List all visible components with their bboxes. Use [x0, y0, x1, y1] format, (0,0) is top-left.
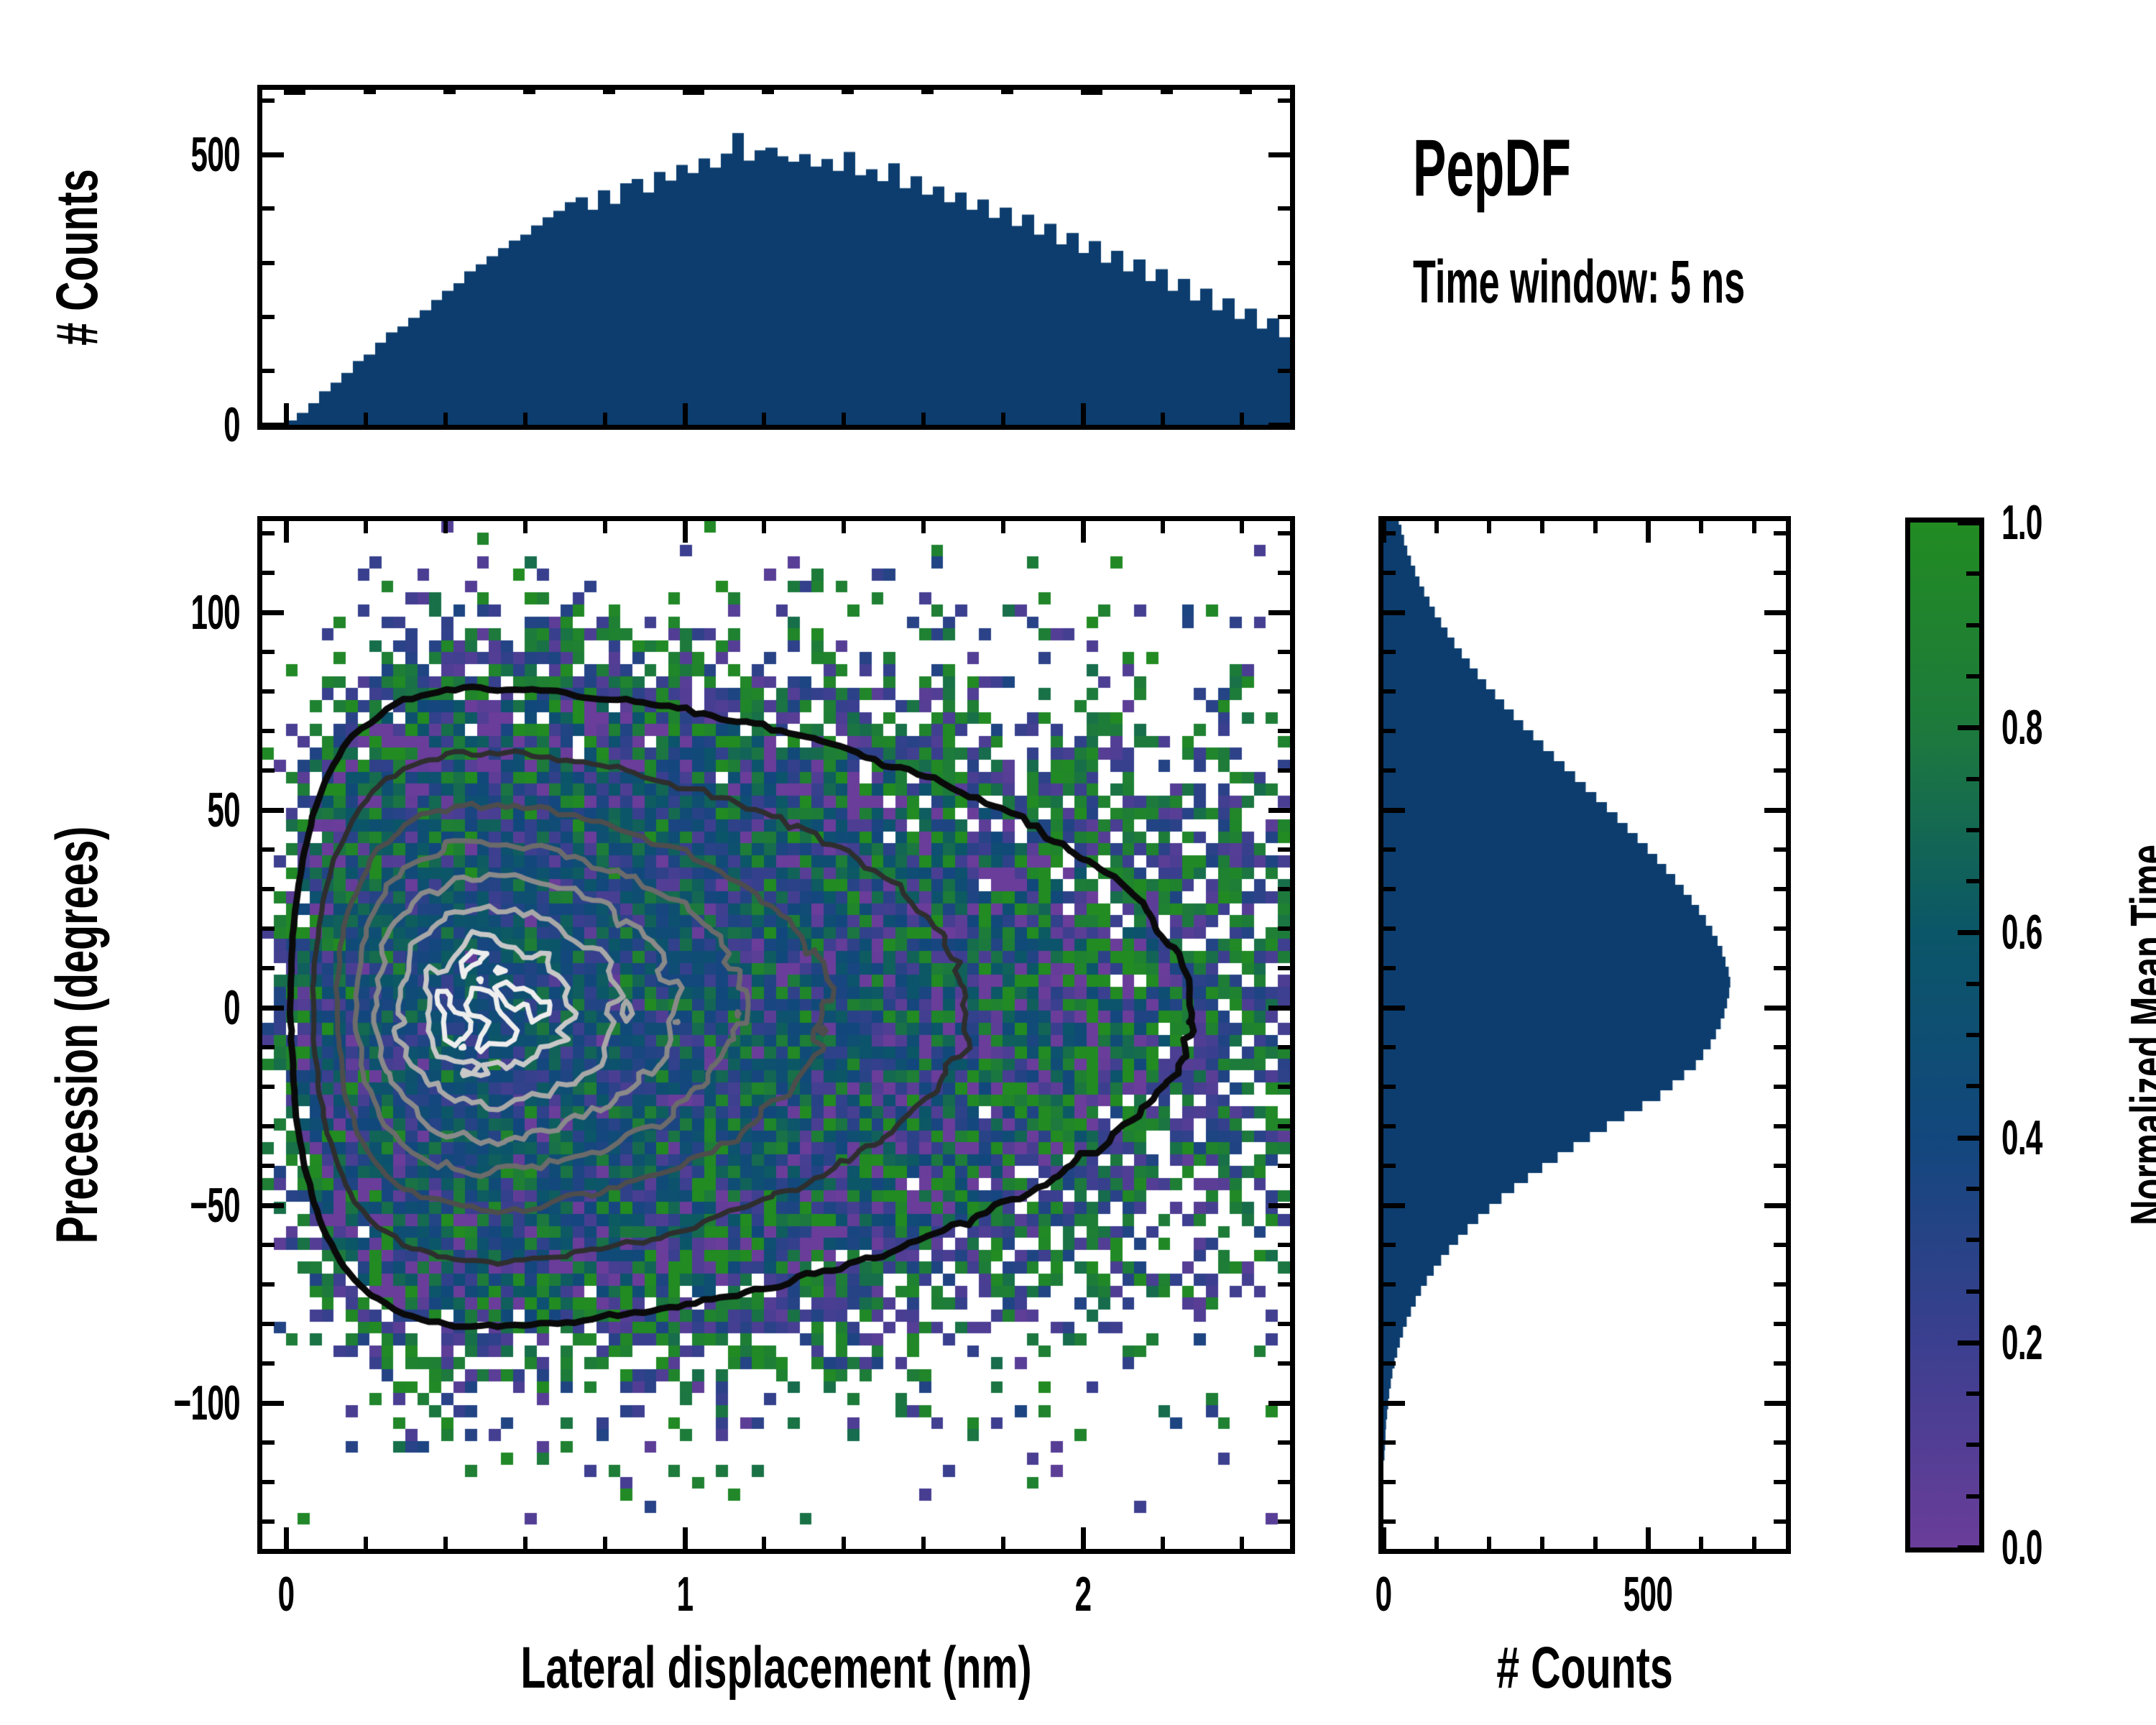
- axis-tick: [262, 1203, 284, 1208]
- axis-tick: [1268, 808, 1290, 813]
- axis-tick-label: 1.0: [2001, 498, 2042, 547]
- axis-tick: [921, 1537, 926, 1549]
- axis-tick: [1383, 1124, 1396, 1128]
- axis-tick: [1383, 650, 1396, 654]
- axis-tick: [1278, 1480, 1290, 1484]
- axis-tick-label: 2: [1075, 1570, 1092, 1619]
- axis-tick-label: 0: [224, 983, 240, 1032]
- axis-tick: [1278, 1045, 1290, 1049]
- axis-tick: [262, 1045, 275, 1049]
- axis-tick: [1383, 808, 1405, 813]
- axis-tick: [1966, 571, 1979, 576]
- axis-tick: [921, 413, 926, 425]
- axis-tick: [1383, 1203, 1405, 1208]
- axis-tick: [683, 1527, 688, 1549]
- axis-tick: [1278, 1322, 1290, 1326]
- axis-tick: [1278, 887, 1290, 891]
- axis-tick: [1081, 1527, 1086, 1549]
- axis-tick: [1774, 1480, 1786, 1484]
- axis-tick: [683, 90, 704, 95]
- axis-tick: [364, 90, 376, 94]
- right-panel-xlabel: # Counts: [1496, 1639, 1673, 1698]
- axis-tick: [1383, 531, 1396, 535]
- axis-tick: [921, 90, 934, 94]
- axis-tick: [1240, 90, 1252, 94]
- axis-tick: [1278, 1519, 1290, 1524]
- axis-tick: [683, 521, 688, 543]
- axis-tick: [1161, 521, 1165, 533]
- axis-tick: [1966, 828, 1979, 832]
- axis-tick: [1278, 1282, 1290, 1287]
- axis-tick: [762, 90, 774, 94]
- axis-tick: [762, 1537, 766, 1549]
- axis-tick: [262, 1006, 284, 1011]
- axis-tick: [1278, 571, 1290, 575]
- axis-tick: [1774, 1243, 1786, 1247]
- axis-tick: [1278, 315, 1290, 319]
- axis-tick-label: 0.4: [2001, 1113, 2042, 1162]
- axis-tick: [1081, 90, 1102, 95]
- axis-tick: [262, 1361, 275, 1366]
- axis-tick: [1958, 1545, 1979, 1550]
- axis-tick: [262, 152, 284, 157]
- top-panel-ylabel: # Counts: [48, 169, 107, 346]
- axis-tick: [1081, 403, 1086, 425]
- axis-tick: [262, 1401, 284, 1406]
- axis-tick: [1278, 847, 1290, 852]
- top-marginal-histogram-panel: [257, 85, 1295, 430]
- axis-tick: [262, 887, 275, 891]
- axis-tick: [262, 610, 284, 615]
- axis-tick: [1752, 521, 1756, 533]
- axis-tick: [1764, 1401, 1786, 1406]
- axis-tick: [262, 1282, 275, 1287]
- axis-tick: [1774, 966, 1786, 970]
- axis-tick: [1268, 152, 1290, 157]
- axis-tick: [1434, 1537, 1439, 1549]
- axis-tick: [1540, 521, 1544, 533]
- axis-tick: [1774, 1282, 1786, 1287]
- axis-tick: [1383, 571, 1396, 575]
- axis-tick: [1966, 777, 1979, 781]
- axis-tick: [284, 90, 305, 95]
- axis-tick: [1774, 1440, 1786, 1445]
- axis-tick: [1278, 369, 1290, 373]
- axis-tick: [1278, 768, 1290, 773]
- axis-tick: [262, 571, 275, 575]
- axis-tick-label: 100: [191, 588, 240, 637]
- axis-tick: [262, 1440, 275, 1445]
- axis-tick: [1383, 610, 1405, 615]
- axis-tick: [443, 1537, 448, 1549]
- axis-tick: [1966, 1187, 1979, 1191]
- axis-tick: [1383, 1282, 1396, 1287]
- axis-tick: [262, 261, 275, 265]
- axis-tick: [1699, 521, 1703, 533]
- axis-tick: [1487, 521, 1491, 533]
- axis-tick: [842, 90, 854, 94]
- axis-tick: [262, 926, 275, 931]
- axis-tick-label: 0: [278, 1570, 295, 1619]
- axis-tick: [262, 768, 275, 773]
- axis-tick: [1966, 1443, 1979, 1447]
- axis-tick: [1966, 1033, 1979, 1037]
- axis-tick-label: −50: [190, 1181, 240, 1230]
- axis-tick: [1774, 768, 1786, 773]
- axis-tick-label: 0: [224, 400, 240, 449]
- axis-tick: [1383, 1243, 1396, 1247]
- axis-tick-label: 0.8: [2001, 703, 2042, 752]
- axis-tick: [1278, 689, 1290, 694]
- axis-tick: [1381, 1527, 1386, 1549]
- axis-tick: [1001, 90, 1013, 94]
- axis-tick: [1774, 1124, 1786, 1128]
- axis-tick-label: 0.6: [2001, 908, 2042, 957]
- axis-tick: [262, 423, 284, 428]
- axis-tick: [1774, 650, 1786, 654]
- axis-tick: [1240, 521, 1244, 533]
- axis-tick: [1774, 1322, 1786, 1326]
- axis-tick: [1958, 725, 1979, 730]
- axis-tick: [1383, 1361, 1396, 1366]
- axis-tick: [262, 1480, 275, 1484]
- axis-tick: [1268, 1203, 1290, 1208]
- axis-tick: [1593, 521, 1598, 533]
- axis-tick: [1383, 1480, 1396, 1484]
- axis-tick: [364, 413, 368, 425]
- axis-tick: [1699, 1537, 1703, 1549]
- right-marginal-histogram-panel: [1378, 516, 1791, 1554]
- axis-tick: [1240, 1537, 1244, 1549]
- axis-tick: [1774, 571, 1786, 575]
- axis-tick: [1278, 1085, 1290, 1089]
- axis-tick: [1383, 1322, 1396, 1326]
- axis-tick: [284, 1527, 289, 1549]
- axis-tick: [1383, 729, 1396, 733]
- colorbar-label: Normalized Mean Time: [2124, 845, 2156, 1225]
- axis-tick: [443, 521, 448, 533]
- axis-tick: [1593, 1537, 1598, 1549]
- axis-tick: [1268, 1401, 1290, 1406]
- axis-tick: [683, 403, 688, 425]
- axis-tick: [1383, 1440, 1396, 1445]
- axis-tick-label: 0.0: [2001, 1523, 2042, 1572]
- axis-tick: [1161, 90, 1173, 94]
- axis-tick: [1774, 847, 1786, 852]
- axis-tick-label: 500: [1623, 1570, 1672, 1619]
- axis-tick: [1966, 1238, 1979, 1242]
- axis-tick: [284, 403, 289, 425]
- axis-tick: [1383, 1519, 1396, 1524]
- axis-tick: [262, 1124, 275, 1128]
- axis-tick: [1487, 1537, 1491, 1549]
- axis-tick: [1278, 926, 1290, 931]
- axis-tick: [1383, 1164, 1396, 1168]
- axis-tick: [262, 966, 275, 970]
- axis-tick: [603, 413, 607, 425]
- axis-tick: [1646, 521, 1651, 543]
- axis-tick: [921, 521, 926, 533]
- axis-tick: [1966, 623, 1979, 627]
- axis-tick-label: 0: [1376, 1570, 1392, 1619]
- axis-tick: [1268, 610, 1290, 615]
- axis-tick: [262, 1322, 275, 1326]
- axis-tick: [762, 413, 766, 425]
- axis-tick: [1752, 1537, 1756, 1549]
- axis-tick: [1774, 1519, 1786, 1524]
- figure-root: 0500 # Counts 012100500−50−100 Lateral d…: [0, 0, 2156, 1725]
- axis-tick: [1764, 1203, 1786, 1208]
- axis-tick: [1958, 930, 1979, 935]
- axis-tick: [1383, 689, 1396, 694]
- axis-tick: [1966, 1289, 1979, 1294]
- axis-tick: [1278, 1440, 1290, 1445]
- axis-tick: [1161, 1537, 1165, 1549]
- axis-tick: [262, 1164, 275, 1168]
- axis-tick: [1958, 1340, 1979, 1345]
- axis-tick: [1383, 926, 1396, 931]
- axis-tick: [443, 90, 456, 94]
- axis-tick: [1001, 521, 1005, 533]
- axis-tick: [262, 1519, 275, 1524]
- axis-tick: [1278, 1124, 1290, 1128]
- axis-tick: [1966, 879, 1979, 883]
- axis-tick: [523, 413, 528, 425]
- axis-tick: [1434, 521, 1439, 533]
- axis-tick: [1278, 531, 1290, 535]
- axis-tick: [262, 650, 275, 654]
- axis-tick: [1958, 520, 1979, 525]
- axis-tick: [603, 521, 607, 533]
- axis-tick: [1383, 1006, 1405, 1011]
- axis-tick-label: 1: [677, 1570, 694, 1619]
- axis-tick: [262, 315, 275, 319]
- figure-subtitle: Time window: 5 ns: [1413, 252, 1745, 312]
- axis-tick: [1383, 1401, 1405, 1406]
- main-panel-ylabel: Precession (degrees): [48, 827, 107, 1244]
- axis-tick: [262, 1085, 275, 1089]
- axis-tick: [262, 847, 275, 852]
- axis-tick: [284, 521, 289, 543]
- axis-tick: [1774, 1045, 1786, 1049]
- axis-tick: [1268, 423, 1290, 428]
- axis-tick: [1764, 1006, 1786, 1011]
- axis-tick: [262, 531, 275, 535]
- axis-tick: [523, 1537, 528, 1549]
- axis-tick: [1764, 610, 1786, 615]
- axis-tick: [1161, 413, 1165, 425]
- axis-tick: [1278, 1361, 1290, 1366]
- axis-tick: [1278, 1164, 1290, 1168]
- axis-tick: [1646, 1527, 1651, 1549]
- axis-tick: [762, 521, 766, 533]
- axis-tick: [1774, 1361, 1786, 1366]
- axis-tick: [1383, 1045, 1396, 1049]
- axis-tick: [1774, 887, 1786, 891]
- axis-tick: [1966, 1494, 1979, 1499]
- axis-tick: [842, 413, 846, 425]
- axis-tick: [1774, 531, 1786, 535]
- axis-tick: [1764, 808, 1786, 813]
- axis-tick: [262, 98, 275, 103]
- axis-tick: [1958, 1136, 1979, 1141]
- axis-tick: [1383, 768, 1396, 773]
- axis-tick: [364, 521, 368, 533]
- axis-tick: [1383, 847, 1396, 852]
- axis-tick: [1278, 98, 1290, 103]
- axis-tick: [1966, 1084, 1979, 1088]
- main-joint-histogram-panel: [257, 516, 1295, 1554]
- axis-tick: [1278, 206, 1290, 211]
- axis-tick: [1278, 966, 1290, 970]
- axis-tick: [523, 90, 535, 94]
- axis-tick: [1966, 982, 1979, 986]
- axis-tick: [262, 206, 275, 211]
- axis-tick: [1966, 1391, 1979, 1396]
- axis-tick: [1383, 887, 1396, 891]
- axis-tick: [603, 1537, 607, 1549]
- axis-tick: [1774, 1164, 1786, 1168]
- axis-tick-label: 500: [191, 130, 240, 179]
- axis-tick: [1774, 729, 1786, 733]
- axis-tick: [1278, 650, 1290, 654]
- axis-tick: [1278, 1243, 1290, 1247]
- main-panel-xlabel: Lateral displacement (nm): [520, 1639, 1031, 1698]
- figure-title: PepDF: [1413, 128, 1571, 208]
- axis-tick: [443, 413, 448, 425]
- axis-tick: [262, 808, 284, 813]
- axis-tick: [1278, 261, 1290, 265]
- axis-tick: [1383, 1085, 1396, 1089]
- axis-tick: [262, 689, 275, 694]
- axis-tick: [262, 729, 275, 733]
- axis-tick: [523, 521, 528, 533]
- axis-tick: [1001, 413, 1005, 425]
- axis-tick: [1966, 674, 1979, 678]
- axis-tick: [842, 521, 846, 533]
- axis-tick: [262, 1243, 275, 1247]
- axis-tick-label: 0.2: [2001, 1318, 2042, 1367]
- axis-tick-label: −100: [174, 1379, 240, 1427]
- axis-tick: [1268, 1006, 1290, 1011]
- axis-tick: [1001, 1537, 1005, 1549]
- axis-tick: [1240, 413, 1244, 425]
- axis-tick: [842, 1537, 846, 1549]
- axis-tick-label: 50: [207, 786, 240, 834]
- axis-tick: [603, 90, 615, 94]
- axis-tick: [1774, 1085, 1786, 1089]
- axis-tick: [1540, 1537, 1544, 1549]
- axis-tick: [1081, 521, 1086, 543]
- axis-tick: [1383, 966, 1396, 970]
- axis-tick: [262, 369, 275, 373]
- axis-tick: [1278, 729, 1290, 733]
- axis-tick: [1774, 926, 1786, 931]
- axis-tick: [364, 1537, 368, 1549]
- axis-tick: [1774, 689, 1786, 694]
